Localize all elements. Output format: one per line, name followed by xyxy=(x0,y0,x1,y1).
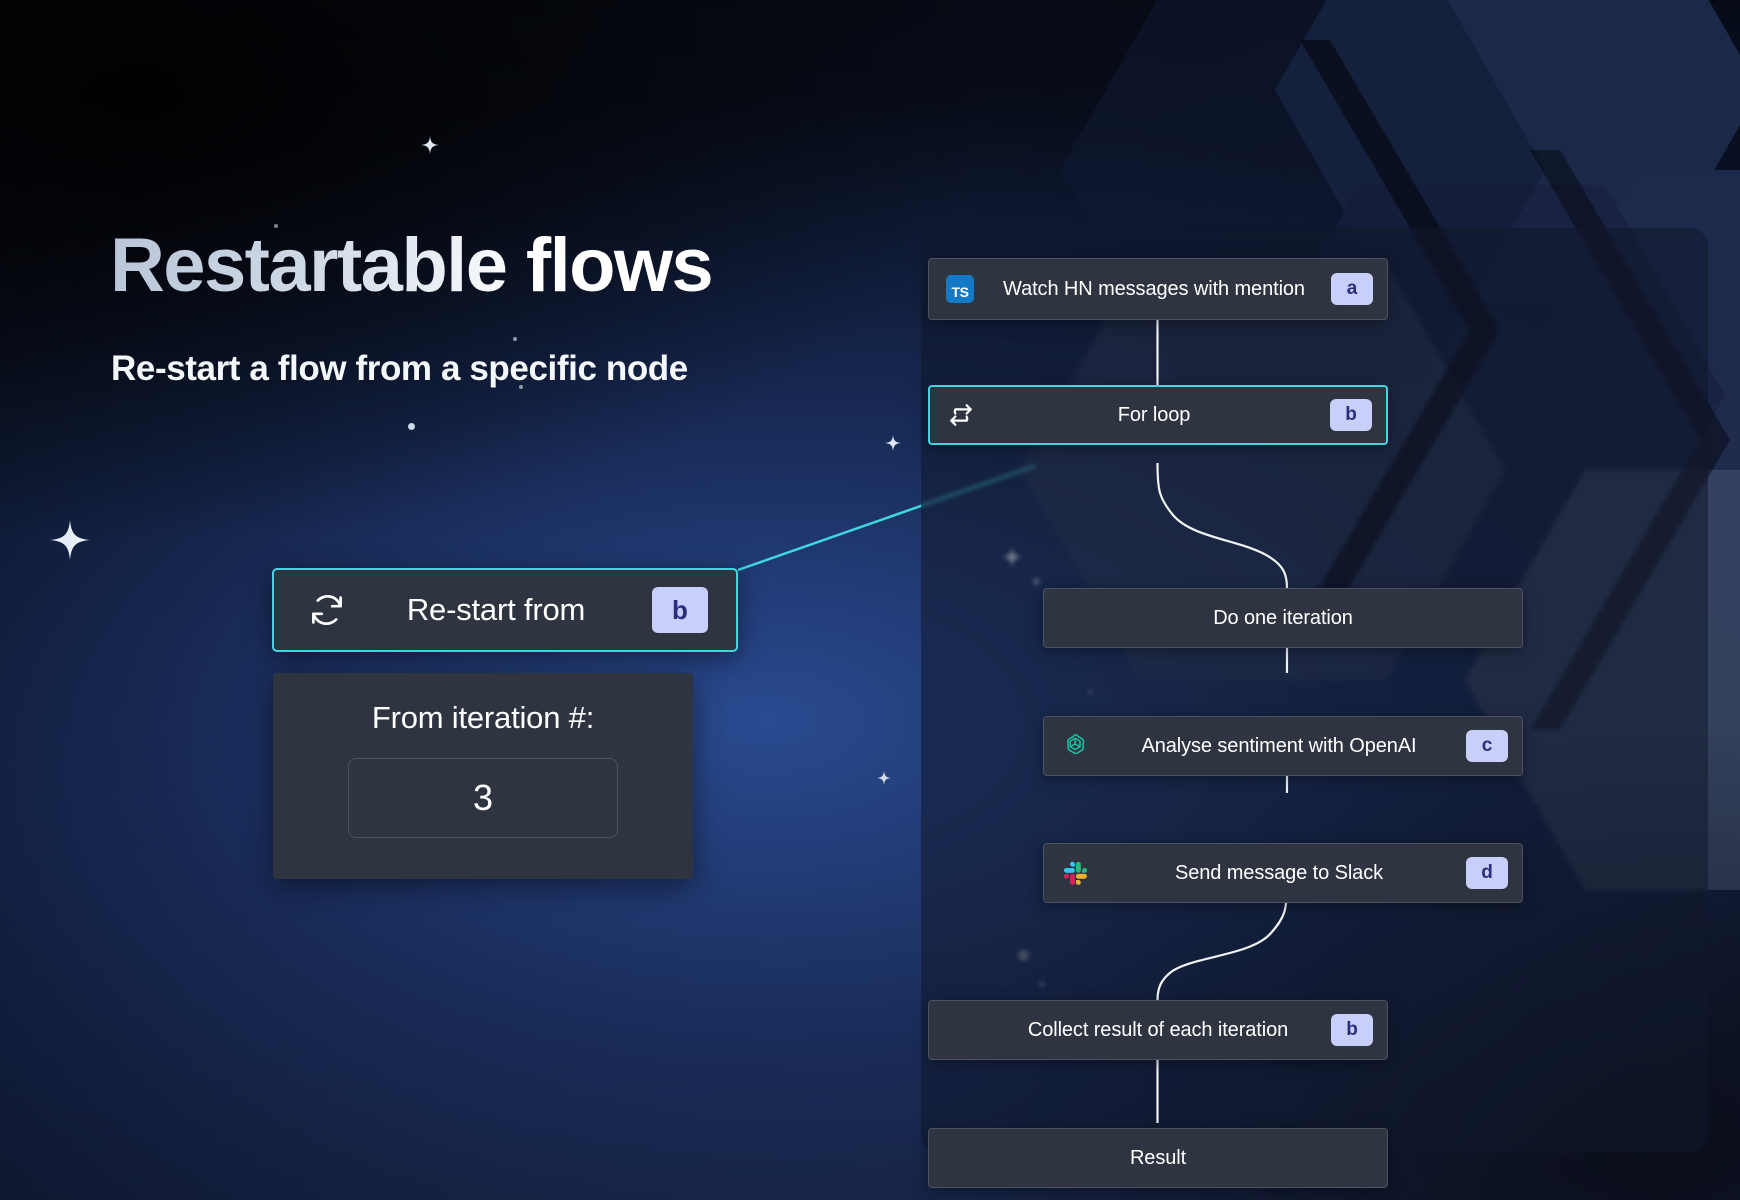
flow-node-label: Analyse sentiment with OpenAI xyxy=(1092,735,1466,758)
flow-node-badge[interactable]: b xyxy=(1331,1014,1373,1046)
flow-node-label: Send message to Slack xyxy=(1092,862,1466,885)
flow-node-do-one-iteration[interactable]: Do one iteration xyxy=(1043,588,1523,648)
page-subtitle: Re-start a flow from a specific node xyxy=(111,349,688,389)
repeat-loop-icon xyxy=(944,398,978,432)
sparkle-dot xyxy=(408,423,415,430)
flow-node-label: Collect result of each iteration xyxy=(985,1019,1331,1042)
flow-node-analyse-sentiment[interactable]: Analyse sentiment with OpenAI c xyxy=(1043,716,1523,776)
slack-icon xyxy=(1058,856,1092,890)
restart-from-label: Re-start from xyxy=(346,592,652,628)
from-iteration-input[interactable] xyxy=(348,758,618,838)
typescript-icon: TS xyxy=(943,272,977,306)
flow-node-label: Result xyxy=(985,1147,1331,1170)
flow-node-badge[interactable]: b xyxy=(1330,399,1372,431)
flow-node-watch[interactable]: TS Watch HN messages with mention a xyxy=(928,258,1388,320)
flow-node-label: For loop xyxy=(978,404,1330,427)
restart-circular-arrows-icon xyxy=(308,591,346,629)
flow-node-badge[interactable]: c xyxy=(1466,730,1508,762)
from-iteration-label: From iteration #: xyxy=(372,700,594,736)
restart-from-card[interactable]: Re-start from b xyxy=(272,568,738,652)
screenshot-root: Restartable flows Re-start a flow from a… xyxy=(0,0,1740,1200)
flow-node-label: Do one iteration xyxy=(1100,607,1466,630)
flow-canvas-panel: TS Watch HN messages with mention a For … xyxy=(921,228,1708,1153)
flow-node-for-loop[interactable]: For loop b xyxy=(928,385,1388,445)
restart-target-badge[interactable]: b xyxy=(652,587,708,633)
flow-node-badge[interactable]: a xyxy=(1331,273,1373,305)
flow-node-send-slack[interactable]: Send message to Slack d xyxy=(1043,843,1523,903)
openai-icon xyxy=(1058,729,1092,763)
flow-node-result[interactable]: Result xyxy=(928,1128,1388,1188)
flow-node-badge[interactable]: d xyxy=(1466,857,1508,889)
flow-node-label: Watch HN messages with mention xyxy=(977,278,1331,301)
flow-node-collect-result[interactable]: Collect result of each iteration b xyxy=(928,1000,1388,1060)
from-iteration-card: From iteration #: xyxy=(273,673,693,879)
page-title: Restartable flows xyxy=(110,228,712,304)
sparkle-dot xyxy=(513,337,517,341)
